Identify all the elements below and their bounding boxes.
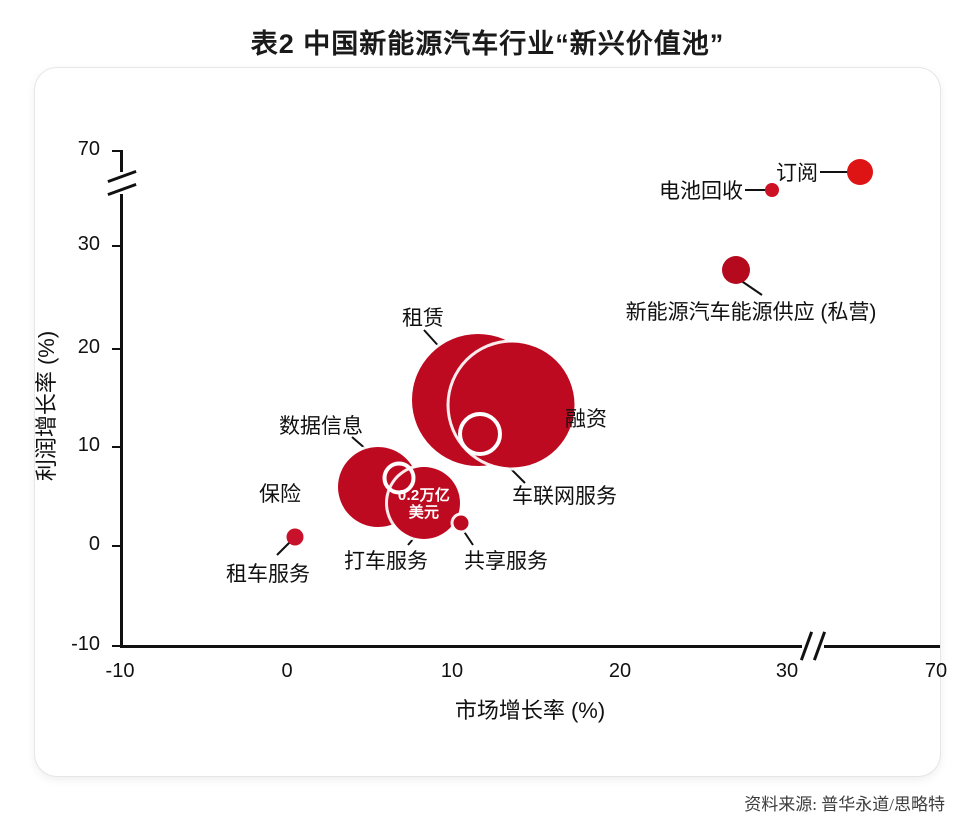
figure-root: 表2 中国新能源汽车行业“新兴价值池” 70 30 20 10 0 -10 -1… (0, 0, 975, 837)
bubble-sharing-service[interactable] (454, 516, 469, 531)
x-tick-label-minus10: -10 (90, 660, 150, 683)
y-tick-mark (112, 645, 121, 647)
x-tick-label-30: 30 (757, 660, 817, 683)
label-ride-hailing: 打车服务 (344, 545, 428, 575)
label-car-rental: 租车服务 (226, 558, 310, 588)
x-tick-label-0: 0 (257, 660, 317, 683)
bubble-connected-vehicle[interactable] (458, 412, 502, 456)
label-leasing: 租赁 (402, 302, 444, 332)
label-subscription: 订阅 (776, 157, 818, 187)
x-tick-label-70: 70 (906, 660, 966, 683)
bubble-energy-supply[interactable] (722, 256, 750, 284)
x-tick-label-20: 20 (590, 660, 650, 683)
x-axis-title: 市场增长率 (%) (120, 693, 940, 725)
page-title: 表2 中国新能源汽车行业“新兴价值池” (0, 22, 975, 61)
y-tick-mark (112, 348, 121, 350)
y-axis-title: 利润增长率 (%) (29, 266, 61, 546)
x-tick-label-10: 10 (422, 660, 482, 683)
y-tick-mark (112, 446, 121, 448)
y-tick-mark (112, 245, 121, 247)
y-axis-line (120, 150, 123, 648)
y-tick-label-minus10: -10 (54, 633, 100, 656)
bubble-car-rental[interactable] (287, 529, 304, 546)
y-tick-label-30: 30 (54, 233, 100, 256)
label-insurance: 保险 (259, 478, 301, 508)
label-connected-vehicle: 车联网服务 (512, 480, 617, 510)
label-energy-supply: 新能源汽车能源供应 (私营) (626, 296, 877, 326)
source-note: 资料来源: 普华永道/思略特 (744, 790, 945, 815)
bubble-subscription[interactable] (847, 159, 873, 185)
y-tick-mark (112, 545, 121, 547)
label-financing: 融资 (565, 403, 607, 433)
label-sharing-service: 共享服务 (464, 545, 548, 575)
label-battery-recycling: 电池回收 (659, 175, 743, 205)
bubble-size-annotation: 0.2万亿 美元 (398, 488, 450, 522)
y-tick-label-70: 70 (54, 138, 100, 161)
y-tick-mark (112, 150, 121, 152)
label-data-information: 数据信息 (279, 410, 363, 440)
